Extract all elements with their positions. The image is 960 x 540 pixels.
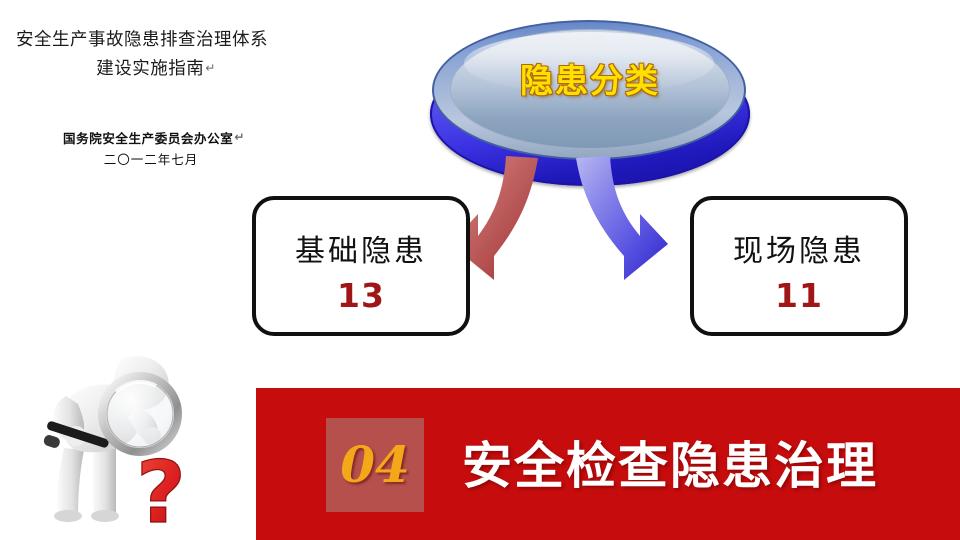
document-title-line-2-text: 建设实施指南 (96, 59, 204, 79)
pilcrow-mark: ↵ (205, 61, 216, 75)
document-title-line-1: 安全生产事故隐患排查治理体系 (14, 26, 324, 54)
magnifier-lens (102, 376, 178, 452)
document-title-block: 安全生产事故隐患排查治理体系 建设实施指南↵ (14, 26, 324, 83)
category-count-basic-hazard: 13 (256, 276, 466, 315)
hazard-classification-disc: 隐患分类 (424, 14, 756, 190)
category-count-site-hazard: 11 (694, 276, 904, 315)
question-mark-glyph: ? (136, 443, 186, 540)
category-box-site-hazard[interactable]: 现场隐患 11 (690, 196, 908, 336)
document-issuer-text: 国务院安全生产委员会办公室 (63, 131, 233, 146)
inspector-illustration: ? (24, 344, 234, 540)
document-date: 二〇一二年七月 (14, 149, 294, 170)
disc-label: 隐患分类 (424, 54, 756, 102)
section-title: 安全检查隐患治理 (462, 420, 878, 512)
question-mark-icon: ? (136, 443, 186, 540)
document-issuer: 国务院安全生产委员会办公室↵ (14, 127, 294, 149)
document-issuer-block: 国务院安全生产委员会办公室↵ 二〇一二年七月 (14, 127, 294, 170)
category-label-site-hazard: 现场隐患 (694, 226, 904, 270)
slide-canvas: 安全生产事故隐患排查治理体系 建设实施指南↵ 国务院安全生产委员会办公室↵ 二〇… (0, 0, 960, 540)
issuer-pilcrow-mark: ↵ (234, 130, 245, 144)
category-label-basic-hazard: 基础隐患 (256, 226, 466, 270)
section-number: 04 (326, 418, 424, 512)
document-title-line-2: 建设实施指南↵ (14, 54, 324, 83)
category-box-basic-hazard[interactable]: 基础隐患 13 (252, 196, 470, 336)
figure-legs (54, 444, 119, 522)
section-banner: 04 安全检查隐患治理 (256, 388, 960, 540)
